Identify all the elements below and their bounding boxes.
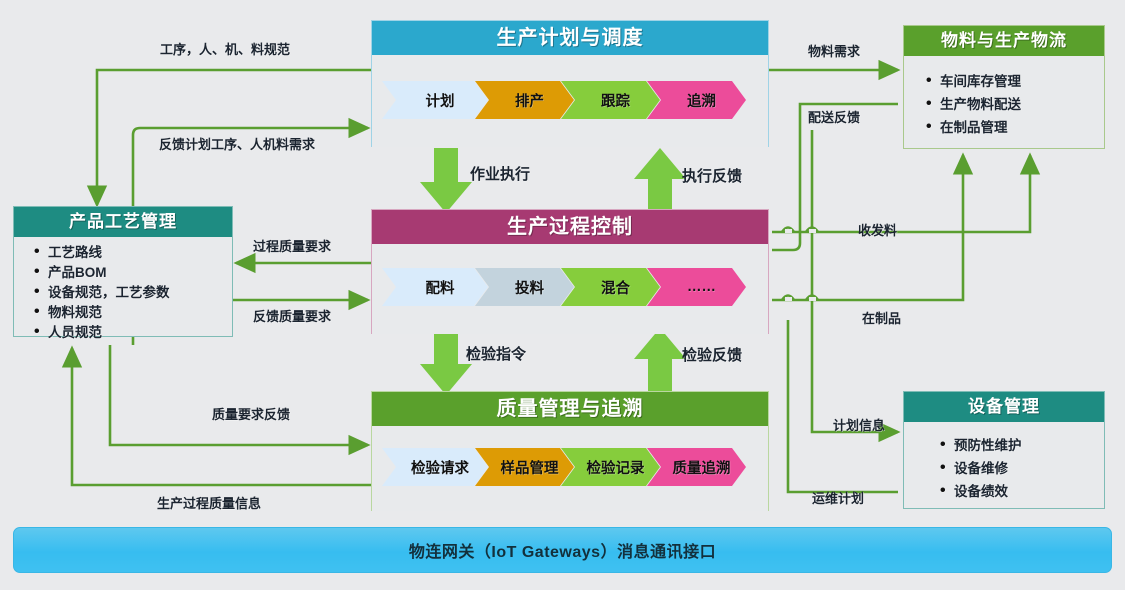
label-receive-issue-material: 收发料 <box>858 220 897 239</box>
step-chevron[interactable]: 混合 <box>561 268 660 306</box>
step-chevron[interactable]: 样品管理 <box>475 448 574 486</box>
label-inspection-order: 检验指令 <box>466 343 526 364</box>
label-job-execution: 作业执行 <box>470 163 530 184</box>
label-maintenance-plan: 运维计划 <box>812 488 864 507</box>
iot-gateway-label: 物连网关（IoT Gateways）消息通讯接口 <box>409 538 716 562</box>
product-process-list: 工艺路线 产品BOM 设备规范，工艺参数 物料规范 人员规范 <box>14 237 232 347</box>
panel-material-logistics[interactable]: 物料与生产物流 车间库存管理 生产物料配送 在制品管理 <box>903 25 1105 149</box>
panel-production-plan-title: 生产计划与调度 <box>372 21 768 55</box>
list-item: 设备规范，工艺参数 <box>34 283 232 303</box>
step-chevron[interactable]: 配料 <box>382 268 488 306</box>
panel-process-control[interactable]: 生产过程控制 配料 投料 混合 …… <box>371 209 769 334</box>
panel-quality-management[interactable]: 质量管理与追溯 检验请求 样品管理 检验记录 质量追溯 <box>371 391 769 511</box>
step-chevron[interactable]: 计划 <box>382 81 488 119</box>
step-chevron[interactable]: 排产 <box>475 81 574 119</box>
step-chevron[interactable]: 检验请求 <box>382 448 488 486</box>
equipment-management-list: 预防性维护 设备维修 设备绩效 <box>904 422 1104 507</box>
panel-product-process-title: 产品工艺管理 <box>14 207 232 237</box>
execution-feedback-arrow <box>634 148 686 213</box>
panel-product-process[interactable]: 产品工艺管理 工艺路线 产品BOM 设备规范，工艺参数 物料规范 人员规范 <box>13 206 233 337</box>
material-logistics-list: 车间库存管理 生产物料配送 在制品管理 <box>904 56 1104 143</box>
label-plan-info: 计划信息 <box>833 415 885 434</box>
production-plan-steps: 计划 排产 跟踪 追溯 <box>382 81 746 119</box>
label-inspection-feedback: 检验反馈 <box>682 344 742 365</box>
list-item: 设备维修 <box>940 457 1104 480</box>
list-img-item: 生产物料配送 <box>926 93 1104 116</box>
label-wip: 在制品 <box>862 308 901 327</box>
iot-gateway-bar[interactable]: 物连网关（IoT Gateways）消息通讯接口 <box>13 527 1112 573</box>
list-img-item: 车间库存管理 <box>926 70 1104 93</box>
list-item: 产品BOM <box>34 263 232 283</box>
label-execution-feedback: 执行反馈 <box>682 165 742 186</box>
panel-quality-management-title: 质量管理与追溯 <box>372 392 768 426</box>
label-delivery-feedback: 配送反馈 <box>808 107 860 126</box>
panel-process-control-title: 生产过程控制 <box>372 210 768 244</box>
label-quality-req-feedback: 质量要求反馈 <box>212 404 290 423</box>
step-chevron[interactable]: 质量追溯 <box>647 448 746 486</box>
list-item: 预防性维护 <box>940 434 1104 457</box>
step-chevron[interactable]: 追溯 <box>647 81 746 119</box>
list-item: 物料规范 <box>34 303 232 323</box>
step-chevron[interactable]: 跟踪 <box>561 81 660 119</box>
label-feedback-plan-spec: 反馈计划工序、人机料需求 <box>159 134 315 153</box>
job-execution-arrow <box>420 148 472 213</box>
list-item: 设备绩效 <box>940 480 1104 503</box>
list-item: 工艺路线 <box>34 243 232 263</box>
step-chevron[interactable]: 检验记录 <box>561 448 660 486</box>
label-process-quality-req: 过程质量要求 <box>253 236 331 255</box>
step-chevron[interactable]: 投料 <box>475 268 574 306</box>
label-material-demand: 物料需求 <box>808 41 860 60</box>
diagram-canvas: 生产计划与调度 计划 排产 跟踪 追溯 生产过程控制 配料 投料 <box>0 0 1125 590</box>
label-production-quality-info: 生产过程质量信息 <box>157 493 261 512</box>
panel-equipment-management-title: 设备管理 <box>904 392 1104 422</box>
panel-material-logistics-title: 物料与生产物流 <box>904 26 1104 56</box>
quality-management-steps: 检验请求 样品管理 检验记录 质量追溯 <box>382 448 746 486</box>
panel-production-plan[interactable]: 生产计划与调度 计划 排产 跟踪 追溯 <box>371 20 769 147</box>
step-chevron[interactable]: …… <box>647 268 746 306</box>
list-item: 人员规范 <box>34 323 232 343</box>
panel-equipment-management[interactable]: 设备管理 预防性维护 设备维修 设备绩效 <box>903 391 1105 509</box>
inspection-order-arrow <box>420 330 472 395</box>
list-img-item: 在制品管理 <box>926 116 1104 139</box>
label-feedback-quality-req: 反馈质量要求 <box>253 306 331 325</box>
process-control-steps: 配料 投料 混合 …… <box>382 268 746 306</box>
label-process-spec: 工序，人、机、料规范 <box>160 39 290 58</box>
inspection-feedback-arrow <box>634 328 686 393</box>
